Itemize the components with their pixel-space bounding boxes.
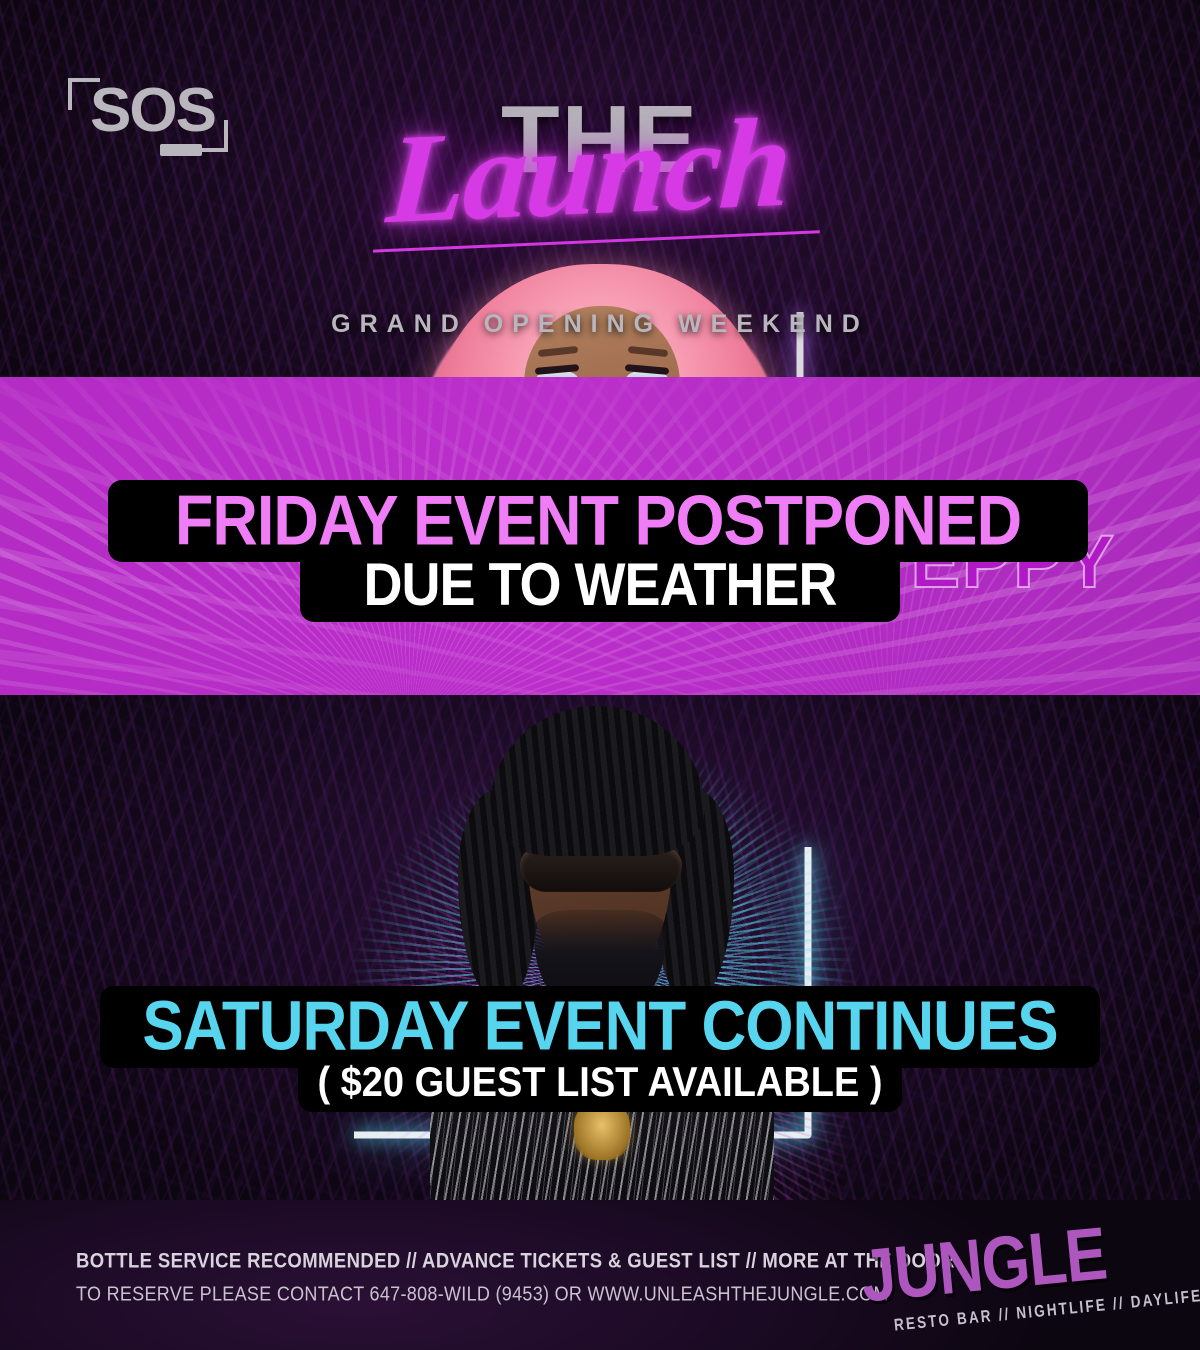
saturday-announcement-banner-secondary: ( $20 GUEST LIST AVAILABLE ) [298,1054,902,1112]
saturday-artist-image [352,698,852,1208]
friday-announcement-line2: DUE TO WEATHER [363,555,836,615]
saturday-announcement-line2: ( $20 GUEST LIST AVAILABLE ) [317,1062,882,1104]
footer-line-contact[interactable]: TO RESERVE PLEASE CONTACT 647-808-WILD (… [76,1282,955,1306]
saturday-announcement-line1: SATURDAY EVENT CONTINUES [142,992,1057,1061]
event-flyer: EPPY SOS THE Launch GRAND OPENING WEEKEN… [0,0,1200,1350]
friday-announcement-banner-secondary: DUE TO WEATHER [300,548,900,622]
footer-text-block: BOTTLE SERVICE RECOMMENDED // ADVANCE TI… [76,1248,955,1303]
footer-line-services: BOTTLE SERVICE RECOMMENDED // ADVANCE TI… [76,1248,955,1273]
event-title-lockup: THE Launch GRAND OPENING WEEKEND [0,92,1200,188]
artist-locs-top [490,706,704,856]
friday-artist-panel: EPPY SOS THE Launch GRAND OPENING WEEKEN… [0,0,1200,700]
event-subtitle: GRAND OPENING WEEKEND [0,310,1200,339]
event-title-the: THE [0,92,1200,188]
friday-announcement-line1: FRIDAY EVENT POSTPONED [175,486,1021,557]
